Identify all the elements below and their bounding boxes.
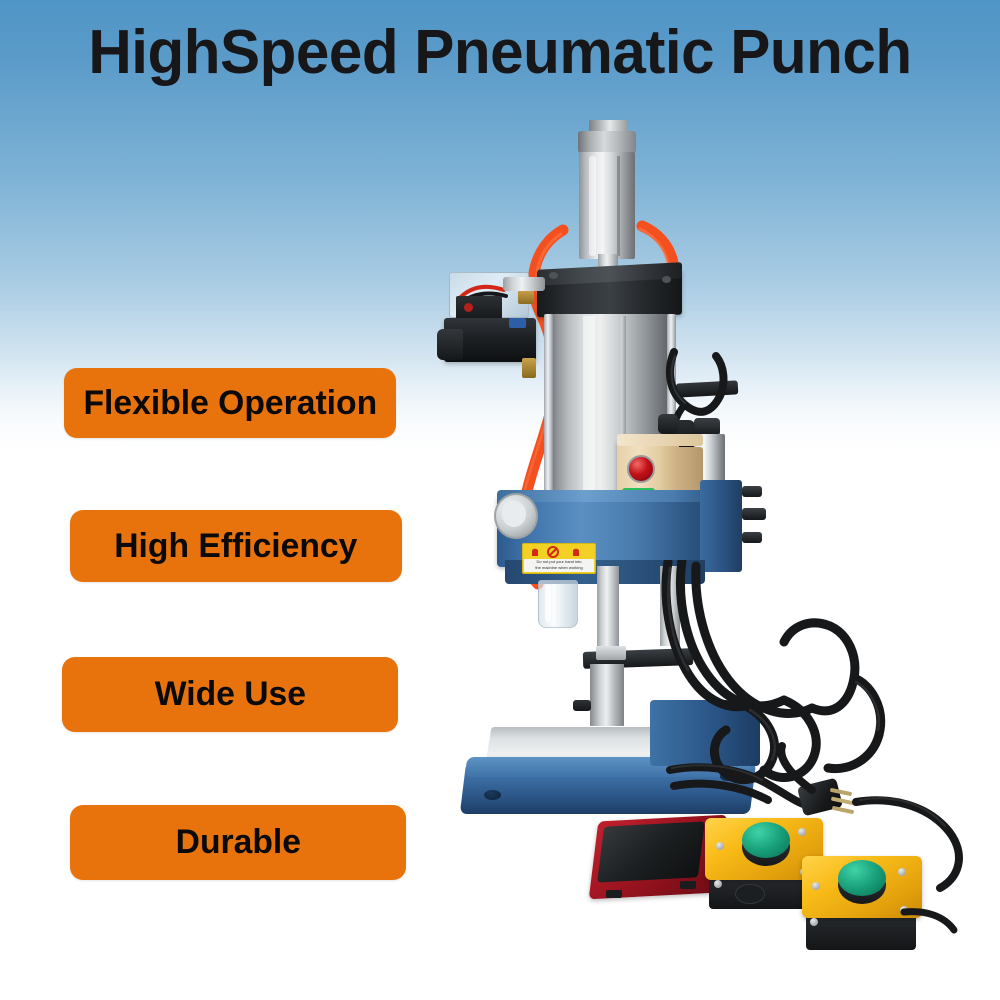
socket-head-bolt — [742, 508, 766, 520]
switch-box-screw — [714, 880, 722, 888]
warning-label-line2: the machine when working — [524, 565, 594, 571]
cap-bolt — [662, 276, 671, 283]
valve-blue-fitting — [509, 318, 526, 328]
power-lamp — [627, 455, 655, 483]
tie-rod-left — [544, 314, 553, 506]
switch-box-screw — [798, 828, 806, 836]
foot-pedal-foot — [606, 890, 622, 898]
ram-adjust-knob — [573, 700, 591, 711]
punch-ram — [590, 664, 624, 726]
lubricator-bowl — [538, 580, 578, 628]
warning-label: Do not put your hand into the machine wh… — [522, 543, 596, 574]
push-button-green-right[interactable] — [838, 860, 886, 896]
socket-head-bolt — [742, 532, 762, 543]
brass-fitting-upper — [518, 290, 534, 304]
cylinder-highlight — [583, 316, 595, 502]
product-image-pneumatic-punch-press: I O Do not put your ha — [0, 0, 1000, 1000]
cap-bolt — [549, 272, 558, 279]
base-mounting-hole — [484, 790, 501, 800]
foot-pedal-foot — [680, 881, 696, 889]
product-marketing-image: HighSpeed Pneumatic Punch Flexible Opera… — [0, 0, 1000, 1000]
socket-head-bolt — [742, 486, 762, 497]
lubricator-bowl-highlight — [545, 584, 551, 622]
top-hex-nut — [578, 131, 636, 153]
switch-box-screw — [898, 868, 906, 876]
shock-absorber-body — [579, 152, 635, 259]
switch-box-left-emblem — [735, 884, 765, 904]
cable-gland-top — [658, 414, 678, 434]
solenoid-nose — [437, 329, 463, 360]
warning-pictograms — [528, 546, 590, 558]
switch-cable-right — [900, 890, 990, 960]
foot-pedal-tread[interactable] — [597, 821, 705, 882]
switch-box-screw — [716, 842, 724, 850]
shock-absorber-seam — [617, 156, 620, 256]
brass-fitting-lower — [522, 358, 536, 378]
valve-red-indicator — [464, 303, 473, 312]
push-button-green-left[interactable] — [742, 822, 790, 858]
switch-box-screw — [810, 918, 818, 926]
machine-head-right-block — [700, 480, 742, 572]
shock-absorber-highlight — [589, 156, 596, 256]
valve-inlet-pipe — [503, 277, 545, 291]
control-box-top — [617, 434, 703, 446]
pressure-gauge-face — [502, 501, 526, 527]
switch-box-screw — [812, 882, 820, 890]
clamp-bracket-nut — [596, 646, 626, 660]
